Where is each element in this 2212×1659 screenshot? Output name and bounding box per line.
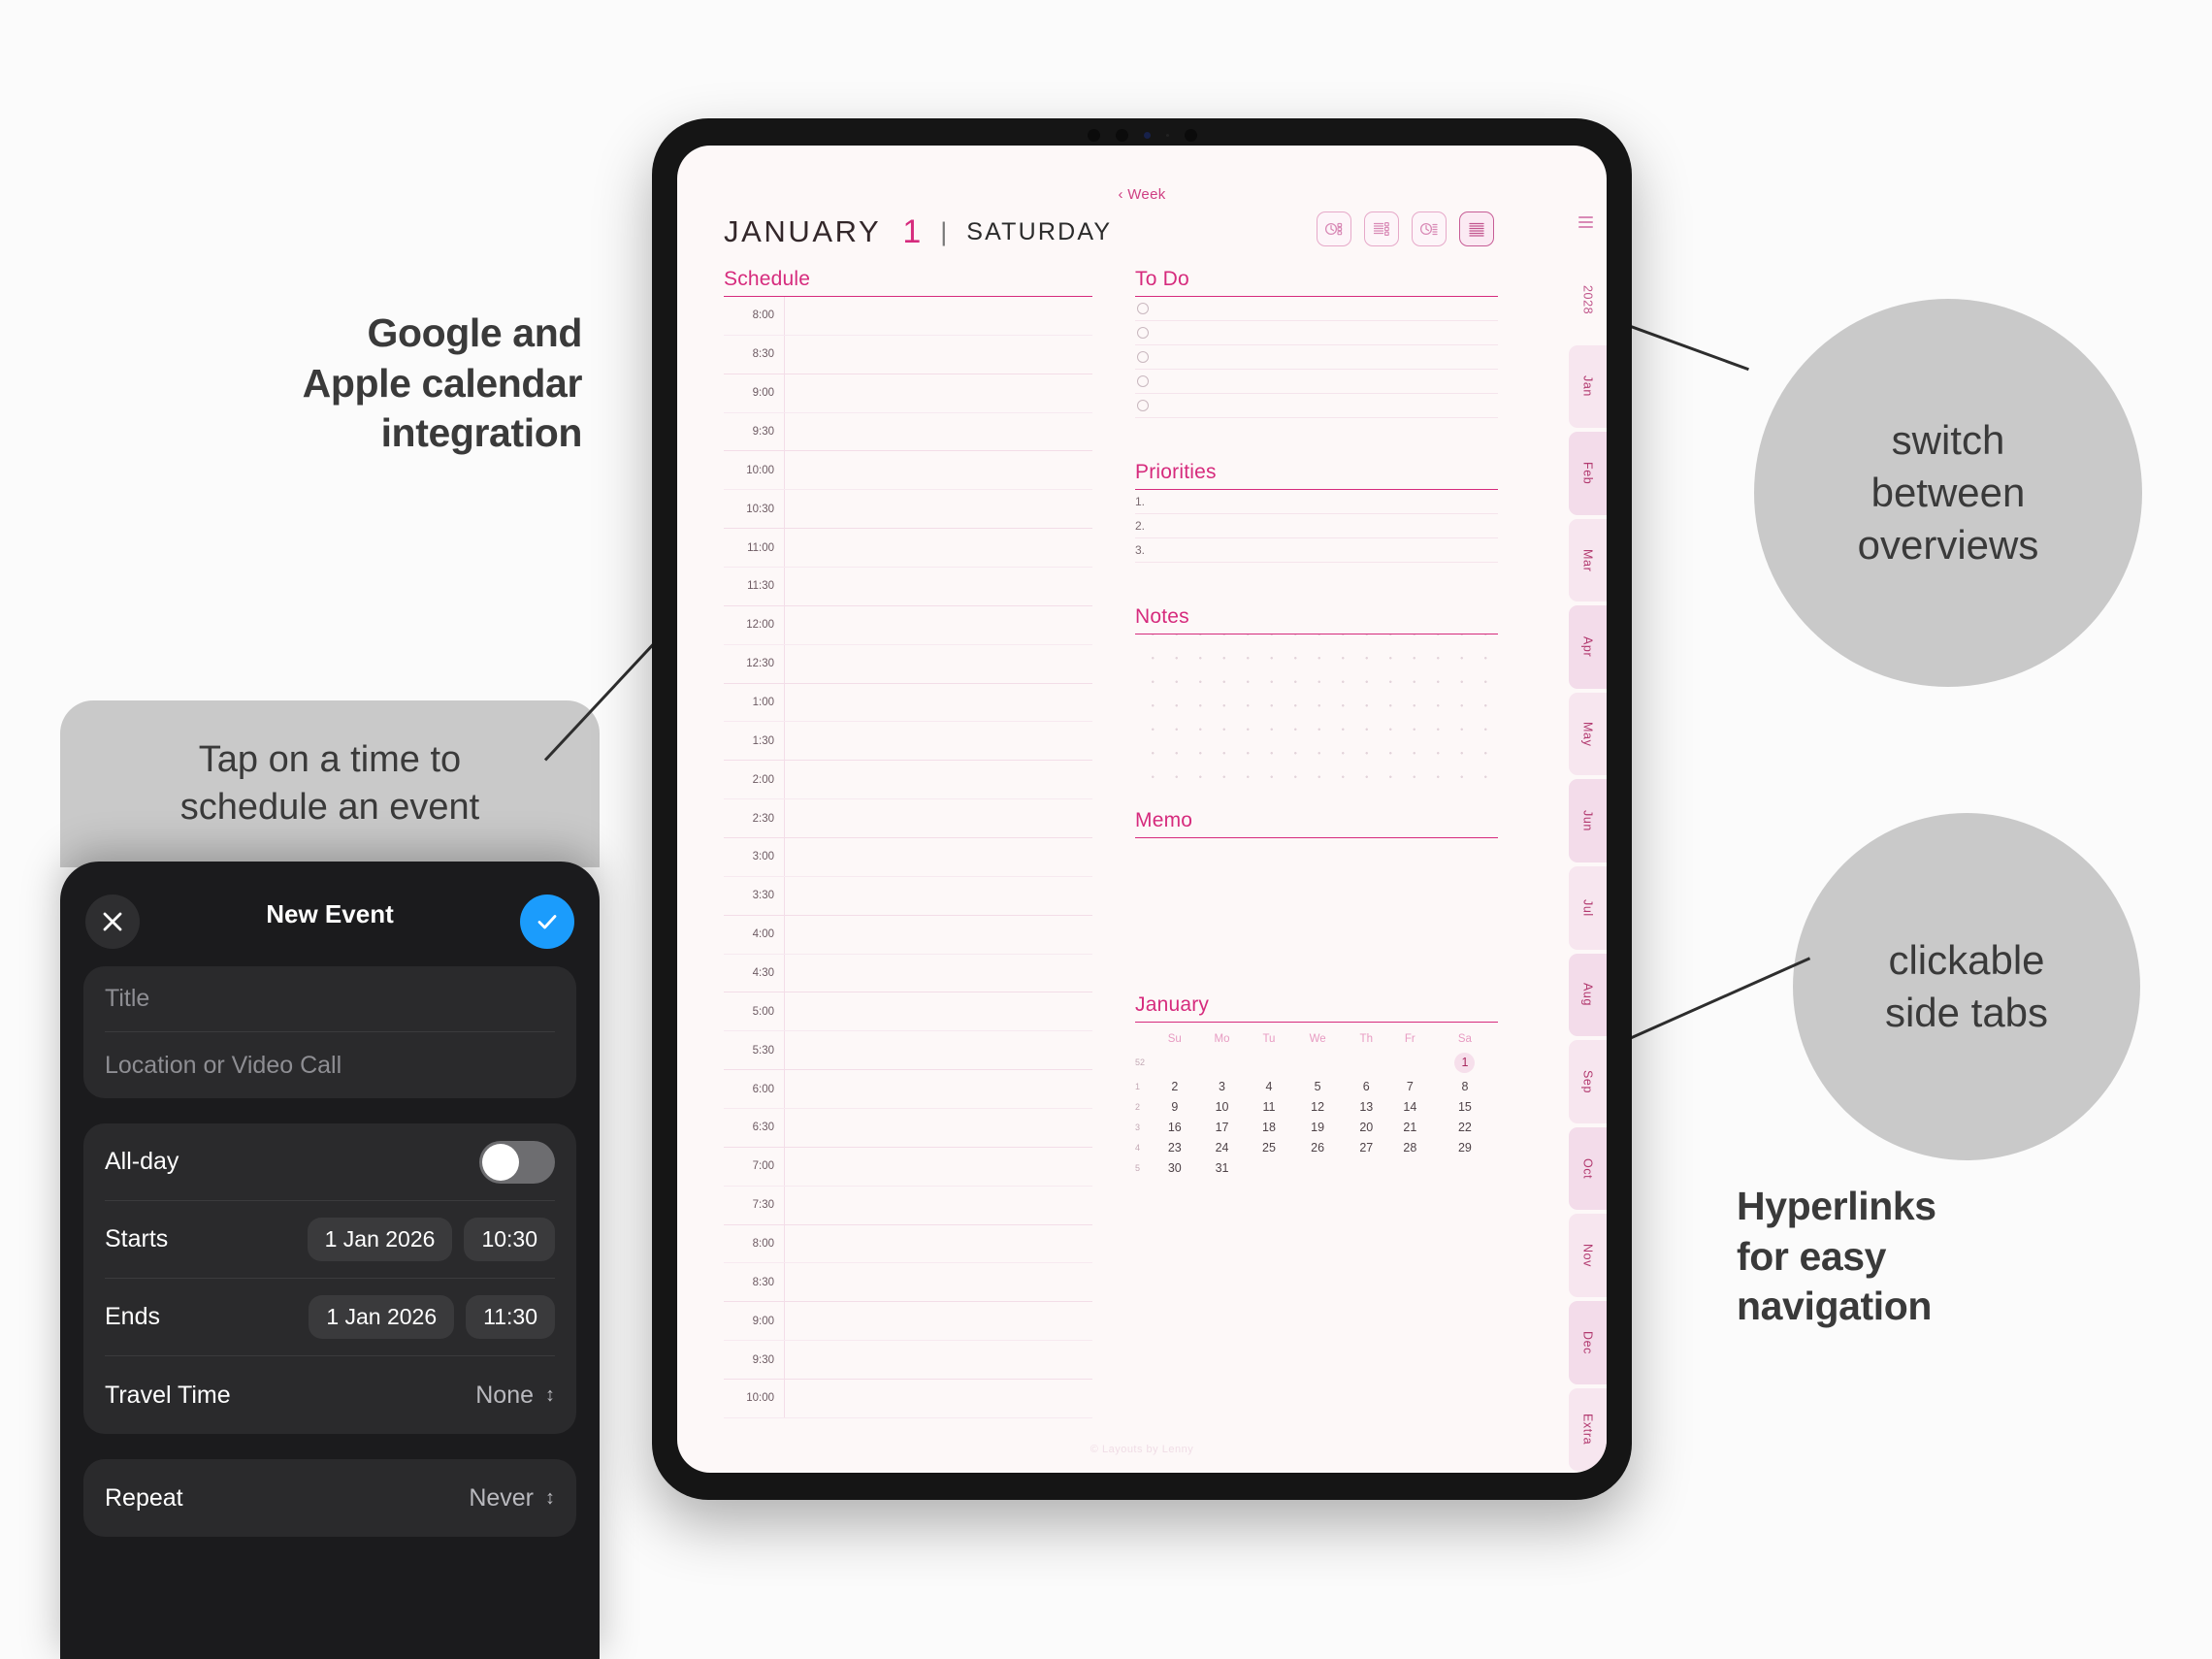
repeat-row[interactable]: Repeat Never ↕ — [105, 1459, 555, 1537]
notes-dot-grid-area[interactable] — [1135, 634, 1498, 792]
minical-day[interactable]: 15 — [1432, 1096, 1498, 1117]
schedule-slot-time: 11:30 — [724, 580, 784, 592]
minical-day[interactable]: 26 — [1290, 1137, 1344, 1157]
schedule-slot[interactable]: 4:00 — [724, 916, 1092, 955]
minical-day[interactable]: 21 — [1388, 1117, 1432, 1137]
schedule-slot[interactable]: 6:00 — [724, 1070, 1092, 1109]
side-tab-nov[interactable]: Nov — [1569, 1214, 1607, 1297]
repeat-label: Repeat — [105, 1484, 183, 1513]
minical-day-empty — [1345, 1049, 1388, 1076]
schedule-slot-line[interactable] — [784, 1148, 1092, 1186]
schedule-slot[interactable]: 2:00 — [724, 761, 1092, 799]
priority-number: 2. — [1135, 519, 1153, 533]
schedule-slot-time: 3:00 — [724, 851, 784, 862]
schedule-slot-line[interactable] — [784, 490, 1092, 528]
schedule-slot-time: 7:00 — [724, 1160, 784, 1172]
schedule-slot-line[interactable] — [784, 1187, 1092, 1224]
minical-week-number: 2 — [1135, 1096, 1153, 1117]
memo-heading: Memo — [1135, 809, 1498, 838]
checkbox-icon[interactable] — [1137, 327, 1149, 339]
event-schedule-card: All-day Starts 1 Jan 2026 10:30 Ends 1 J… — [83, 1123, 576, 1434]
schedule-slot[interactable]: 10:30 — [724, 490, 1092, 529]
schedule-slot-time: 2:30 — [724, 813, 784, 825]
sidebar-column: To Do Priorities 1.2.3. Notes Memo Janua… — [1135, 268, 1498, 1418]
schedule-slot[interactable]: 12:00 — [724, 606, 1092, 645]
list-checkbox-view-icon[interactable] — [1364, 211, 1399, 246]
schedule-slot-time: 12:00 — [724, 619, 784, 631]
minical-weekday-header: Tu — [1247, 1028, 1290, 1049]
schedule-slot[interactable]: 5:00 — [724, 992, 1092, 1031]
travel-time-row[interactable]: Travel Time None ↕ — [105, 1356, 555, 1434]
schedule-heading: Schedule — [724, 268, 1092, 297]
schedule-slot-time: 8:30 — [724, 348, 784, 360]
schedule-slot-line[interactable] — [784, 722, 1092, 760]
schedule-slot[interactable]: 10:00 — [724, 451, 1092, 490]
minical-weekday-header: Mo — [1197, 1028, 1248, 1049]
minical-day[interactable]: 31 — [1197, 1157, 1248, 1178]
page-footer-credit: © Layouts by Lenny — [1090, 1444, 1193, 1455]
schedule-slot[interactable]: 1:30 — [724, 722, 1092, 761]
repeat-value: Never — [469, 1484, 534, 1513]
schedule-slot-line[interactable] — [784, 1341, 1092, 1379]
schedule-slot-time: 8:00 — [724, 309, 784, 321]
schedule-slot-time: 11:00 — [724, 542, 784, 554]
minical-weeknum-header — [1135, 1028, 1153, 1049]
side-tab-rail[interactable]: 2028JanFebMarAprMayJunJulAugSepOctNovDec… — [1564, 146, 1607, 1473]
schedule-slot[interactable]: 3:30 — [724, 877, 1092, 916]
side-tab-jan[interactable]: Jan — [1569, 345, 1607, 429]
schedule-slot-time: 8:00 — [724, 1238, 784, 1250]
minical-week-number: 5 — [1135, 1157, 1153, 1178]
minical-day[interactable]: 19 — [1290, 1117, 1344, 1137]
minical-day-empty — [1345, 1157, 1388, 1178]
todo-item[interactable] — [1135, 370, 1498, 394]
schedule-slot-time: 5:30 — [724, 1045, 784, 1057]
minical-day-empty — [1247, 1049, 1290, 1076]
schedule-slot[interactable]: 8:00 — [724, 297, 1092, 336]
schedule-slot[interactable]: 8:30 — [724, 336, 1092, 374]
minical-weekday-header: Sa — [1432, 1028, 1498, 1049]
schedule-slot-time: 6:30 — [724, 1122, 784, 1133]
view-switcher-toolbar[interactable] — [1317, 211, 1494, 246]
schedule-slot-time: 6:00 — [724, 1084, 784, 1095]
minical-day[interactable]: 22 — [1432, 1117, 1498, 1137]
confirm-check-icon[interactable] — [520, 895, 574, 949]
minical-day[interactable]: 24 — [1197, 1137, 1248, 1157]
schedule-slot-time: 10:00 — [724, 465, 784, 476]
schedule-slot[interactable]: 2:30 — [724, 799, 1092, 838]
schedule-slot[interactable]: 11:30 — [724, 568, 1092, 606]
mini-calendar-table[interactable]: SuMoTuWeThFrSa52112345678291011121314153… — [1135, 1028, 1498, 1178]
schedule-slot-line[interactable] — [784, 645, 1092, 683]
travel-time-value: None — [475, 1382, 534, 1410]
side-tab-feb[interactable]: Feb — [1569, 432, 1607, 515]
ipad-screen: ‹ Week JANUARY 1 | SATURDAY — [677, 146, 1607, 1473]
minical-day[interactable]: 10 — [1197, 1096, 1248, 1117]
schedule-slot-line[interactable] — [784, 877, 1092, 915]
side-tab-jul[interactable]: Jul — [1569, 866, 1607, 950]
schedule-slot[interactable]: 7:00 — [724, 1148, 1092, 1187]
schedule-slot-time: 9:30 — [724, 1354, 784, 1366]
side-tab-may[interactable]: May — [1569, 693, 1607, 776]
location-field[interactable]: Location or Video Call — [105, 1032, 555, 1098]
minical-day[interactable]: 11 — [1247, 1096, 1290, 1117]
side-tab-2028[interactable]: 2028 — [1569, 258, 1607, 342]
schedule-slot-line[interactable] — [784, 568, 1092, 605]
planner-page: ‹ Week JANUARY 1 | SATURDAY — [677, 146, 1607, 1473]
priorities-list[interactable]: 1.2.3. — [1135, 490, 1498, 563]
minical-day-empty — [1290, 1049, 1344, 1076]
minical-day[interactable]: 2 — [1153, 1076, 1197, 1096]
clock-list-view-icon[interactable] — [1317, 211, 1351, 246]
minical-week-row: 316171819202122 — [1135, 1117, 1498, 1137]
minical-heading: January — [1135, 993, 1498, 1023]
close-icon[interactable] — [85, 895, 140, 949]
promo-text-hyperlinks: Hyperlinksfor easynavigation — [1737, 1182, 2154, 1332]
week-back-link[interactable]: ‹ Week — [1118, 186, 1165, 203]
minical-day[interactable]: 16 — [1153, 1117, 1197, 1137]
schedule-slot-line[interactable] — [784, 799, 1092, 837]
minical-day-empty — [1247, 1157, 1290, 1178]
schedule-slot-time: 9:30 — [724, 426, 784, 438]
checkbox-icon[interactable] — [1137, 400, 1149, 411]
schedule-slot-line[interactable] — [784, 955, 1092, 992]
minical-day-empty — [1388, 1157, 1432, 1178]
schedule-slot-time: 2:00 — [724, 774, 784, 786]
schedule-slot-time: 5:00 — [724, 1006, 784, 1018]
title-field[interactable]: Title — [105, 966, 555, 1032]
all-day-label: All-day — [105, 1148, 179, 1176]
schedule-slot[interactable]: 9:00 — [724, 374, 1092, 413]
minical-week-row: 12345678 — [1135, 1076, 1498, 1096]
minical-week-number: 52 — [1135, 1049, 1153, 1076]
schedule-slot-line[interactable] — [784, 413, 1092, 451]
mini-calendar[interactable]: SuMoTuWeThFrSa52112345678291011121314153… — [1135, 1028, 1498, 1178]
minical-week-row: 423242526272829 — [1135, 1137, 1498, 1157]
lines-view-icon[interactable] — [1459, 211, 1494, 246]
minical-day[interactable]: 4 — [1247, 1076, 1290, 1096]
side-tab-jun[interactable]: Jun — [1569, 779, 1607, 862]
ends-row[interactable]: Ends 1 Jan 2026 11:30 — [105, 1279, 555, 1356]
new-event-sheet: New Event Title Location or Video Call A… — [60, 862, 600, 1659]
schedule-slot[interactable]: 11:00 — [724, 529, 1092, 568]
schedule-slot-line[interactable] — [784, 1109, 1092, 1147]
schedule-slot-time: 1:00 — [724, 697, 784, 708]
schedule-slot[interactable]: 9:00 — [724, 1302, 1092, 1341]
minical-day[interactable]: 28 — [1388, 1137, 1432, 1157]
hamburger-menu-icon[interactable] — [1564, 210, 1607, 235]
checkbox-icon[interactable] — [1137, 303, 1149, 314]
schedule-slot[interactable]: 10:00 — [724, 1380, 1092, 1418]
minical-day[interactable]: 14 — [1388, 1096, 1432, 1117]
minical-day-empty — [1197, 1049, 1248, 1076]
minical-day[interactable]: 18 — [1247, 1117, 1290, 1137]
schedule-slot-line[interactable] — [784, 761, 1092, 798]
header-day-of-week: SATURDAY — [966, 218, 1112, 246]
schedule-slot[interactable]: 8:00 — [724, 1225, 1092, 1264]
side-tab-sep[interactable]: Sep — [1569, 1040, 1607, 1123]
minical-weekday-header: We — [1290, 1028, 1344, 1049]
schedule-slot-time: 10:30 — [724, 504, 784, 515]
chevron-updown-icon: ↕ — [545, 1487, 555, 1510]
schedule-slot-time: 1:30 — [724, 735, 784, 747]
starts-date-pill[interactable]: 1 Jan 2026 — [308, 1218, 453, 1261]
minical-week-row: 53031 — [1135, 1157, 1498, 1178]
schedule-slot[interactable]: 6:30 — [724, 1109, 1092, 1148]
todo-item[interactable] — [1135, 394, 1498, 418]
side-tab-aug[interactable]: Aug — [1569, 954, 1607, 1037]
minical-day-selected[interactable]: 1 — [1432, 1049, 1498, 1076]
ipad-device-frame: ‹ Week JANUARY 1 | SATURDAY — [652, 118, 1632, 1500]
starts-row[interactable]: Starts 1 Jan 2026 10:30 — [105, 1201, 555, 1279]
schedule-slot-line[interactable] — [784, 606, 1092, 644]
minical-week-number: 4 — [1135, 1137, 1153, 1157]
schedule-slot[interactable]: 5:30 — [724, 1031, 1092, 1070]
schedule-slot-time: 8:30 — [724, 1277, 784, 1288]
notes-heading: Notes — [1135, 605, 1498, 634]
minical-day[interactable]: 13 — [1345, 1096, 1388, 1117]
schedule-slot-time: 10:00 — [724, 1392, 784, 1404]
schedule-slot-line[interactable] — [784, 1031, 1092, 1069]
schedule-slot-time: 12:30 — [724, 658, 784, 669]
event-repeat-card: Repeat Never ↕ — [83, 1459, 576, 1537]
schedule-slot[interactable]: 9:30 — [724, 413, 1092, 452]
priority-number: 3. — [1135, 543, 1153, 557]
minical-week-row: 521 — [1135, 1049, 1498, 1076]
checkbox-icon[interactable] — [1137, 351, 1149, 363]
priority-item[interactable]: 2. — [1135, 514, 1498, 538]
schedule-slot-time: 9:00 — [724, 387, 784, 399]
schedule-slot-line[interactable] — [784, 992, 1092, 1030]
minical-day[interactable]: 5 — [1290, 1076, 1344, 1096]
starts-label: Starts — [105, 1225, 168, 1253]
schedule-slot-list[interactable]: 8:008:309:009:3010:0010:3011:0011:3012:0… — [724, 297, 1092, 1418]
schedule-slot-line[interactable] — [784, 374, 1092, 412]
side-tab-apr[interactable]: Apr — [1569, 605, 1607, 689]
header-day-number: 1 — [902, 213, 921, 251]
minical-day-empty — [1153, 1049, 1197, 1076]
minical-weekday-header: Fr — [1388, 1028, 1432, 1049]
callout-tap-on-a-time: Tap on a time toschedule an event — [60, 700, 600, 867]
priority-item[interactable]: 3. — [1135, 538, 1498, 563]
schedule-slot-time: 9:00 — [724, 1316, 784, 1327]
todo-item[interactable] — [1135, 345, 1498, 370]
ends-time-pill[interactable]: 11:30 — [466, 1295, 555, 1339]
schedule-slot[interactable]: 12:30 — [724, 645, 1092, 684]
schedule-slot[interactable]: 9:30 — [724, 1341, 1092, 1380]
schedule-slot-line[interactable] — [784, 451, 1092, 489]
sheet-header: New Event — [60, 862, 600, 966]
checkbox-icon[interactable] — [1137, 375, 1149, 387]
callout-bubble-switch-overviews: switchbetweenoverviews — [1754, 299, 2142, 687]
promo-text-calendar-integration: Google andApple calendarintegration — [136, 309, 582, 459]
callout-bubble-clickable-side-tabs: clickableside tabs — [1793, 813, 2140, 1160]
minical-weekday-header: Th — [1345, 1028, 1388, 1049]
schedule-slot-line[interactable] — [784, 684, 1092, 722]
schedule-slot-line[interactable] — [784, 838, 1092, 876]
schedule-slot[interactable]: 1:00 — [724, 684, 1092, 723]
todo-item[interactable] — [1135, 321, 1498, 345]
minical-day[interactable]: 23 — [1153, 1137, 1197, 1157]
minical-day[interactable]: 12 — [1290, 1096, 1344, 1117]
todo-item[interactable] — [1135, 297, 1498, 321]
schedule-column: Schedule 8:008:309:009:3010:0010:3011:00… — [724, 268, 1092, 1418]
todo-list[interactable] — [1135, 297, 1498, 418]
schedule-slot-time: 4:30 — [724, 967, 784, 979]
priority-item[interactable]: 1. — [1135, 490, 1498, 514]
schedule-slot-time: 7:30 — [724, 1199, 784, 1211]
all-day-toggle[interactable] — [479, 1141, 555, 1184]
schedule-slot-line[interactable] — [784, 1225, 1092, 1263]
schedule-slot[interactable]: 3:00 — [724, 838, 1092, 877]
ends-label: Ends — [105, 1303, 160, 1331]
schedule-slot-line[interactable] — [784, 297, 1092, 335]
minical-day[interactable]: 29 — [1432, 1137, 1498, 1157]
schedule-slot-time: 3:30 — [724, 890, 784, 901]
side-tab-dec[interactable]: Dec — [1569, 1301, 1607, 1384]
chevron-updown-icon: ↕ — [545, 1384, 555, 1407]
minical-day[interactable]: 17 — [1197, 1117, 1248, 1137]
schedule-slot-time: 4:00 — [724, 928, 784, 940]
starts-time-pill[interactable]: 10:30 — [464, 1218, 555, 1261]
schedule-slot-line[interactable] — [784, 1070, 1092, 1108]
side-tab-extra[interactable]: Extra — [1569, 1388, 1607, 1472]
todo-heading: To Do — [1135, 268, 1498, 297]
all-day-row[interactable]: All-day — [105, 1123, 555, 1201]
minical-day[interactable]: 9 — [1153, 1096, 1197, 1117]
event-text-fields-card: Title Location or Video Call — [83, 966, 576, 1098]
side-tab-mar[interactable]: Mar — [1569, 519, 1607, 602]
minical-day[interactable]: 27 — [1345, 1137, 1388, 1157]
minical-day[interactable]: 3 — [1197, 1076, 1248, 1096]
minical-day-empty — [1388, 1049, 1432, 1076]
header-separator: | — [940, 217, 947, 247]
schedule-slot-line[interactable] — [784, 529, 1092, 567]
schedule-slot[interactable]: 4:30 — [724, 955, 1092, 993]
schedule-slot[interactable]: 7:30 — [724, 1187, 1092, 1225]
schedule-slot[interactable]: 8:30 — [724, 1263, 1092, 1302]
minical-day-empty — [1290, 1157, 1344, 1178]
schedule-slot-line[interactable] — [784, 1302, 1092, 1340]
header-month: JANUARY — [724, 214, 881, 249]
minical-day-empty — [1432, 1157, 1498, 1178]
schedule-slot-line[interactable] — [784, 336, 1092, 374]
minical-day[interactable]: 25 — [1247, 1137, 1290, 1157]
minical-weekday-header: Su — [1153, 1028, 1197, 1049]
clock-lines-view-icon[interactable] — [1412, 211, 1447, 246]
side-tab-oct[interactable]: Oct — [1569, 1127, 1607, 1211]
priority-number: 1. — [1135, 495, 1153, 508]
memo-area[interactable] — [1135, 838, 1498, 984]
sheet-title: New Event — [266, 899, 394, 929]
schedule-slot-line[interactable] — [784, 1380, 1092, 1417]
minical-day[interactable]: 20 — [1345, 1117, 1388, 1137]
priorities-heading: Priorities — [1135, 461, 1498, 490]
planner-columns: Schedule 8:008:309:009:3010:0010:3011:00… — [724, 268, 1498, 1418]
travel-time-label: Travel Time — [105, 1382, 231, 1410]
minical-day[interactable]: 7 — [1388, 1076, 1432, 1096]
schedule-slot-line[interactable] — [784, 1263, 1092, 1301]
minical-week-number: 1 — [1135, 1076, 1153, 1096]
schedule-slot-line[interactable] — [784, 916, 1092, 954]
minical-week-number: 3 — [1135, 1117, 1153, 1137]
ends-date-pill[interactable]: 1 Jan 2026 — [309, 1295, 454, 1339]
minical-day[interactable]: 8 — [1432, 1076, 1498, 1096]
minical-week-row: 29101112131415 — [1135, 1096, 1498, 1117]
minical-day[interactable]: 6 — [1345, 1076, 1388, 1096]
ipad-camera-module — [1050, 124, 1234, 146]
minical-day[interactable]: 30 — [1153, 1157, 1197, 1178]
